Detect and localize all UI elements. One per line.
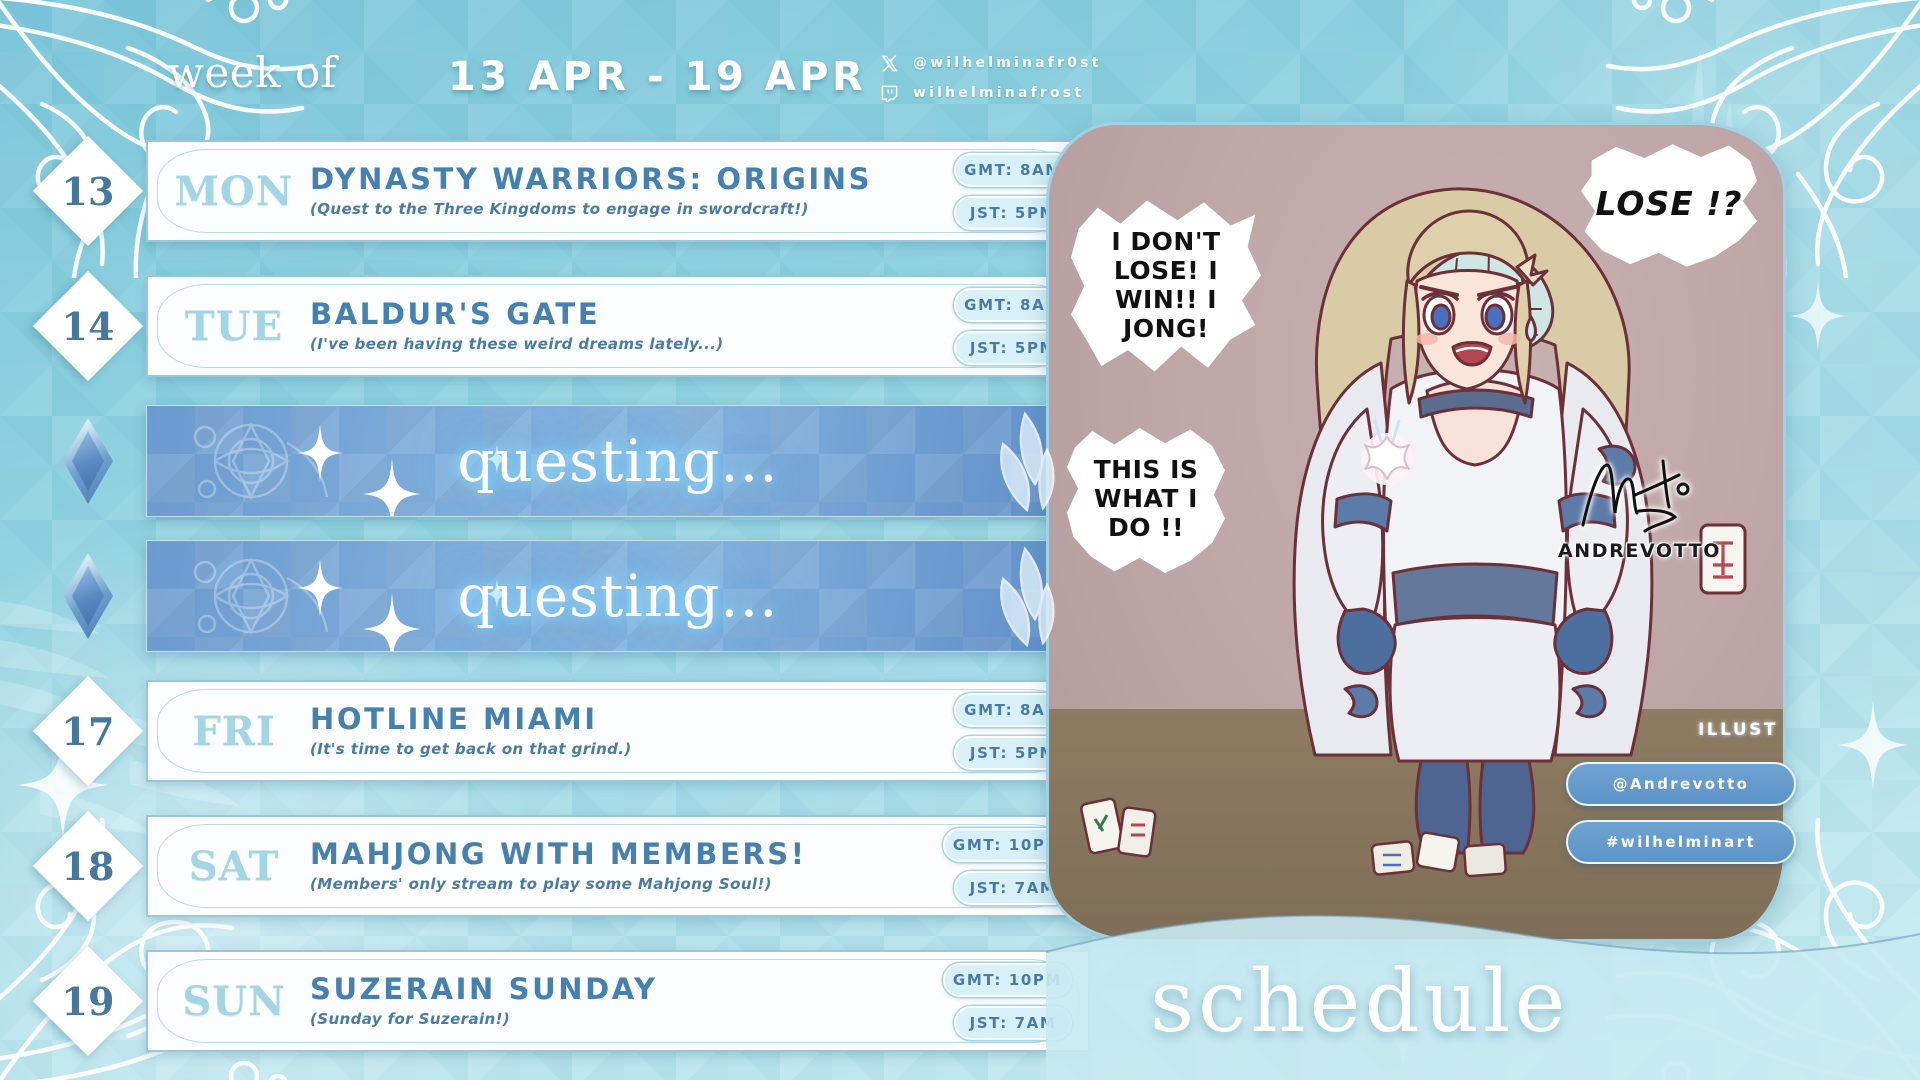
gem-badge <box>30 538 146 654</box>
x-twitter-icon <box>880 54 899 73</box>
date-badge: 13 <box>30 133 146 249</box>
sparkle-icon <box>363 458 421 517</box>
questing-banner: questing... <box>146 540 1090 652</box>
schedule-row[interactable]: 17 FRI HOTLINE MIAMI (It's time to get b… <box>30 668 1090 794</box>
schedule-row-questing: questing... <box>30 533 1090 659</box>
credit-artist-badge[interactable]: @Andrevotto <box>1566 762 1796 806</box>
stream-card[interactable]: MON DYNASTY WARRIORS: ORIGINS (Quest to … <box>146 140 1090 242</box>
stream-subtitle: (It's time to get back on that grind.) <box>310 740 938 758</box>
questing-label: questing... <box>457 427 778 495</box>
date-number: 13 <box>62 169 115 214</box>
day-label: MON <box>158 168 310 215</box>
stream-title: HOTLINE MIAMI <box>310 704 938 734</box>
schedule-row[interactable]: 14 TUE BALDUR'S GATE (I've been having t… <box>30 263 1090 389</box>
day-label: TUE <box>158 303 310 350</box>
stream-title: BALDUR'S GATE <box>310 299 938 329</box>
gem-diamond-shape <box>63 553 113 639</box>
schedule-list: 13 MON DYNASTY WARRIORS: ORIGINS (Quest … <box>30 128 1090 1073</box>
stream-card[interactable]: SUN SUZERAIN SUNDAY (Sunday for Suzerain… <box>146 950 1090 1052</box>
day-label: FRI <box>158 708 310 755</box>
twitch-handle: wilhelminafrost <box>913 85 1084 101</box>
gem-diamond-shape <box>63 418 113 504</box>
social-row-twitch[interactable]: wilhelminafrost <box>880 82 1102 104</box>
week-of-label: week of <box>168 48 337 97</box>
date-badge: 17 <box>30 673 146 789</box>
stream-subtitle: (Sunday for Suzerain!) <box>310 1010 938 1028</box>
gem-badge <box>30 403 146 519</box>
day-label: SAT <box>158 843 310 890</box>
sparkle-decoration <box>1838 700 1908 790</box>
social-row-x[interactable]: @wilhelminafr0st <box>880 52 1102 74</box>
questing-banner: questing... <box>146 405 1090 517</box>
signature-name: ANDREVOTTO <box>1558 540 1721 562</box>
mahjong-tiles-scattered-decoration <box>1369 817 1539 887</box>
schedule-graphic: week of 13 APR - 19 APR @wilhelminafr0st… <box>0 0 1920 1080</box>
x-handle: @wilhelminafr0st <box>913 55 1102 71</box>
sparkle-icon <box>363 593 421 652</box>
artist-signature: ANDREVOTTO <box>1558 455 1721 562</box>
stream-title: DYNASTY WARRIORS: ORIGINS <box>310 164 938 194</box>
schedule-row[interactable]: 13 MON DYNASTY WARRIORS: ORIGINS (Quest … <box>30 128 1090 254</box>
date-number: 14 <box>62 304 115 349</box>
stream-subtitle: (I've been having these weird dreams lat… <box>310 335 938 353</box>
stream-subtitle: (Quest to the Three Kingdoms to engage i… <box>310 200 938 218</box>
questing-label: questing... <box>457 562 778 630</box>
social-handles: @wilhelminafr0st wilhelminafrost <box>880 52 1102 104</box>
crystal-leaf-decoration <box>985 545 1061 649</box>
crystal-leaf-decoration <box>985 410 1061 514</box>
stream-card[interactable]: SAT MAHJONG WITH MEMBERS! (Members' only… <box>146 815 1090 917</box>
illust-label: ILLUST <box>1698 720 1778 740</box>
illustrator-credits: ILLUST @Andrevotto #wilhelminart <box>1566 748 1796 864</box>
date-number: 18 <box>62 844 115 889</box>
character-art-panel: I DON'T LOSE! I WIN!! I JONG! THIS IS WH… <box>1046 122 1786 942</box>
schedule-row-questing: questing... <box>30 398 1090 524</box>
date-number: 17 <box>62 709 115 754</box>
date-range: 13 APR - 19 APR <box>448 54 866 100</box>
day-label: SUN <box>158 978 310 1025</box>
sparkle-icon <box>297 559 343 617</box>
stream-card[interactable]: FRI HOTLINE MIAMI (It's time to get back… <box>146 680 1090 782</box>
stream-card[interactable]: TUE BALDUR'S GATE (I've been having thes… <box>146 275 1090 377</box>
stream-title: MAHJONG WITH MEMBERS! <box>310 839 938 869</box>
stream-title: SUZERAIN SUNDAY <box>310 974 938 1004</box>
sparkle-icon <box>297 424 343 482</box>
date-badge: 18 <box>30 808 146 924</box>
date-badge: 19 <box>30 943 146 1059</box>
schedule-row[interactable]: 18 SAT MAHJONG WITH MEMBERS! (Members' o… <box>30 803 1090 929</box>
schedule-row[interactable]: 19 SUN SUZERAIN SUNDAY (Sunday for Suzer… <box>30 938 1090 1064</box>
mahjong-tiles-decoration <box>1077 775 1187 865</box>
credit-hashtag-badge[interactable]: #wilhelminart <box>1566 820 1796 864</box>
sparkle-decoration <box>1790 280 1846 352</box>
signature-mark-icon <box>1575 455 1703 533</box>
date-number: 19 <box>62 979 115 1024</box>
schedule-title: schedule <box>1150 952 1569 1052</box>
date-badge: 14 <box>30 268 146 384</box>
twitch-icon <box>880 84 899 103</box>
stream-subtitle: (Members' only stream to play some Mahjo… <box>310 875 938 893</box>
